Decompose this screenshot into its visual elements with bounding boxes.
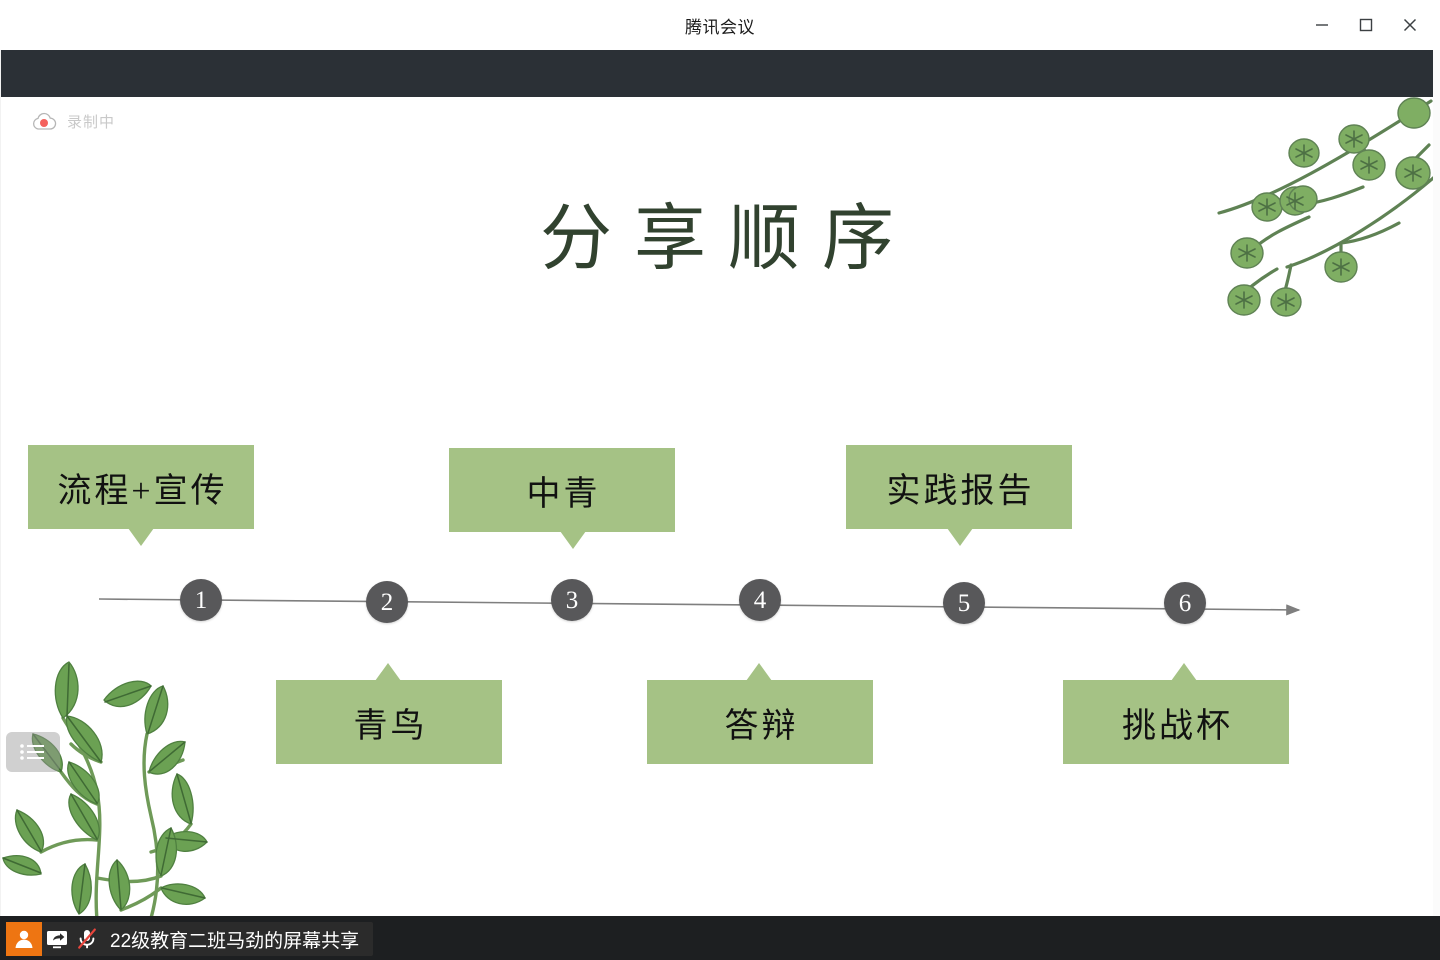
minimize-button[interactable] — [1300, 9, 1344, 41]
callout-pointer-down — [560, 531, 586, 549]
screen-share-indicator — [42, 922, 72, 956]
leaf-vine-decoration — [1, 642, 233, 916]
callout-box-1-label: 流程+宣传 — [54, 463, 227, 512]
axis-line — [99, 599, 1299, 610]
screen-share-status-pill[interactable]: 22级教育二班马劲的屏幕共享 — [6, 922, 373, 956]
timeline-node-1-number: 1 — [195, 588, 208, 613]
timeline-node-3[interactable]: 3 — [551, 579, 593, 621]
screen-share-icon — [45, 928, 69, 950]
microphone-muted-indicator — [72, 922, 102, 956]
close-icon — [1403, 18, 1417, 32]
callout-pointer-down — [128, 528, 154, 546]
timeline-node-6[interactable]: 6 — [1164, 582, 1206, 624]
callout-box-4[interactable]: 答辩 — [647, 680, 873, 764]
window-title: 腾讯会议 — [0, 0, 1440, 50]
callout-box-1[interactable]: 流程+宣传 — [28, 445, 254, 529]
callout-pointer-up — [1171, 663, 1197, 681]
callout-box-5-label: 实践报告 — [884, 463, 1035, 512]
callout-box-6[interactable]: 挑战杯 — [1063, 680, 1289, 764]
maximize-button[interactable] — [1344, 9, 1388, 41]
timeline-node-5-number: 5 — [958, 591, 971, 616]
callout-box-3[interactable]: 中青 — [449, 448, 675, 532]
mic-muted-icon — [75, 927, 99, 951]
callout-pointer-up — [375, 663, 401, 681]
timeline-node-3-number: 3 — [566, 588, 579, 613]
close-button[interactable] — [1388, 9, 1432, 41]
timeline-node-6-number: 6 — [1179, 591, 1192, 616]
slide-outline-button[interactable] — [6, 732, 60, 772]
cloud-record-icon — [31, 112, 57, 132]
minimize-icon — [1315, 18, 1329, 32]
callout-box-6-label: 挑战杯 — [1119, 698, 1233, 747]
title-bar: 腾讯会议 — [0, 0, 1440, 51]
timeline-node-4-number: 4 — [754, 588, 767, 613]
timeline-node-5[interactable]: 5 — [943, 582, 985, 624]
recording-label: 录制中 — [67, 111, 115, 132]
shared-screen-slide: 录制中 分享顺序 1 2 3 4 5 6 — [1, 97, 1433, 916]
slide-title: 分享顺序 — [1, 179, 1433, 284]
callout-box-3-label: 中青 — [524, 466, 601, 515]
window-controls — [1300, 0, 1432, 50]
presenter-badge — [6, 922, 42, 956]
timeline-node-2[interactable]: 2 — [366, 581, 408, 623]
callout-box-5[interactable]: 实践报告 — [846, 445, 1072, 529]
callout-box-2[interactable]: 青鸟 — [276, 680, 502, 764]
share-status-text: 22级教育二班马劲的屏幕共享 — [110, 926, 359, 953]
list-icon — [19, 742, 47, 762]
person-icon — [13, 928, 35, 950]
recording-indicator: 录制中 — [31, 111, 115, 132]
maximize-icon — [1359, 18, 1373, 32]
tencent-meeting-window: 腾讯会议 — [0, 0, 1440, 960]
callout-pointer-down — [947, 528, 973, 546]
right-gutter — [1433, 50, 1440, 916]
callout-box-4-label: 答辩 — [722, 698, 799, 747]
meeting-toolbar-strip — [1, 50, 1433, 97]
callout-box-2-label: 青鸟 — [351, 698, 428, 747]
timeline-node-1[interactable]: 1 — [180, 579, 222, 621]
timeline-node-4[interactable]: 4 — [739, 579, 781, 621]
callout-pointer-up — [746, 663, 772, 681]
timeline-node-2-number: 2 — [381, 590, 394, 615]
